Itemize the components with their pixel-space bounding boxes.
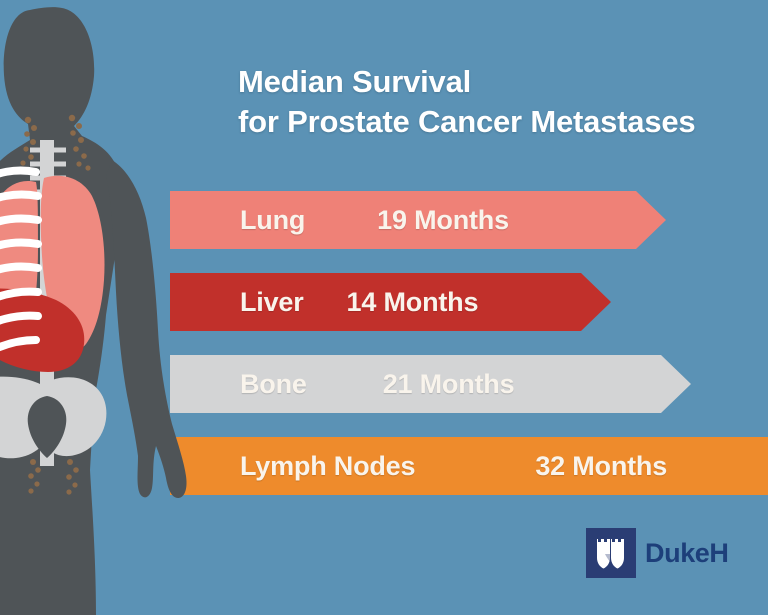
infographic-canvas: Lung 19 Months Liver 14 Months Bone 21 M… [0,0,768,615]
bar-liver-label: Liver [240,287,304,318]
page-title-line-2: for Prostate Cancer Metastases [238,102,768,142]
bar-bone[interactable]: Bone 21 Months [170,355,691,413]
bar-lymph-nodes-text: Lymph Nodes 32 Months [240,437,667,495]
bar-liver-value: 14 Months [347,287,479,318]
page-title-line-1: Median Survival [238,62,768,102]
bar-bone-text: Bone 21 Months [240,355,514,413]
bar-lymph-nodes[interactable]: Lymph Nodes 32 Months [170,437,768,495]
bar-lymph-nodes-value: 32 Months [535,451,667,482]
bar-lung-text: Lung 19 Months [240,191,509,249]
bar-lung[interactable]: Lung 19 Months [170,191,666,249]
bar-bone-value: 21 Months [383,369,515,400]
duke-health-logo[interactable]: DukeH [586,528,729,578]
bar-bone-label: Bone [240,369,307,400]
bar-lung-label: Lung [240,205,305,236]
duke-shield-icon [595,536,627,570]
duke-health-wordmark: DukeH [645,538,729,569]
page-title: Median Survival for Prostate Cancer Meta… [238,62,768,141]
bar-liver-text: Liver 14 Months [240,273,478,331]
bar-lung-value: 19 Months [377,205,509,236]
duke-shield-mark [586,528,636,578]
bar-lymph-nodes-label: Lymph Nodes [240,451,415,482]
bar-liver[interactable]: Liver 14 Months [170,273,611,331]
